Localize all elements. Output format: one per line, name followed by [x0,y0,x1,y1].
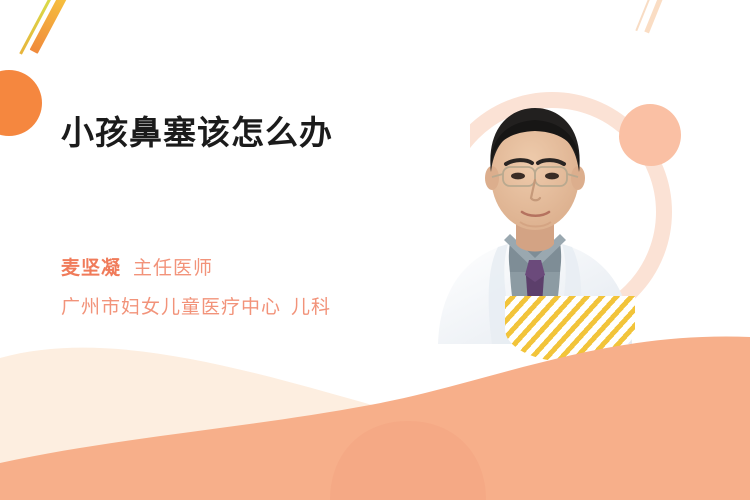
doctor-rank: 主任医师 [133,258,213,279]
doctor-portrait [430,84,640,344]
diagonal-thin-stroke-decoration [19,0,55,54]
diagonal-thin-stroke-topright-decoration [635,0,650,31]
doctor-name: 麦坚凝 [61,258,121,279]
outlined-slash-decoration [152,360,173,397]
text-block: 小孩鼻塞该怎么办 麦坚凝主任医师 广州市妇女儿童医疗中心儿科 [61,112,461,319]
doctor-byline: 麦坚凝主任医师 [61,253,461,280]
circle-decoration [0,70,42,136]
page-title: 小孩鼻塞该怎么办 [61,112,461,153]
diagonal-stroke-decoration [30,0,72,54]
video-thumbnail-card: 小孩鼻塞该怎么办 麦坚凝主任医师 广州市妇女儿童医疗中心儿科 [0,0,750,500]
diagonal-stroke-topright-decoration [644,0,664,33]
hospital-name: 广州市妇女儿童医疗中心 [61,297,281,318]
department-name: 儿科 [291,297,331,318]
salmon-wave-decoration [0,325,750,500]
doctor-affiliation: 广州市妇女儿童医疗中心儿科 [61,292,461,319]
